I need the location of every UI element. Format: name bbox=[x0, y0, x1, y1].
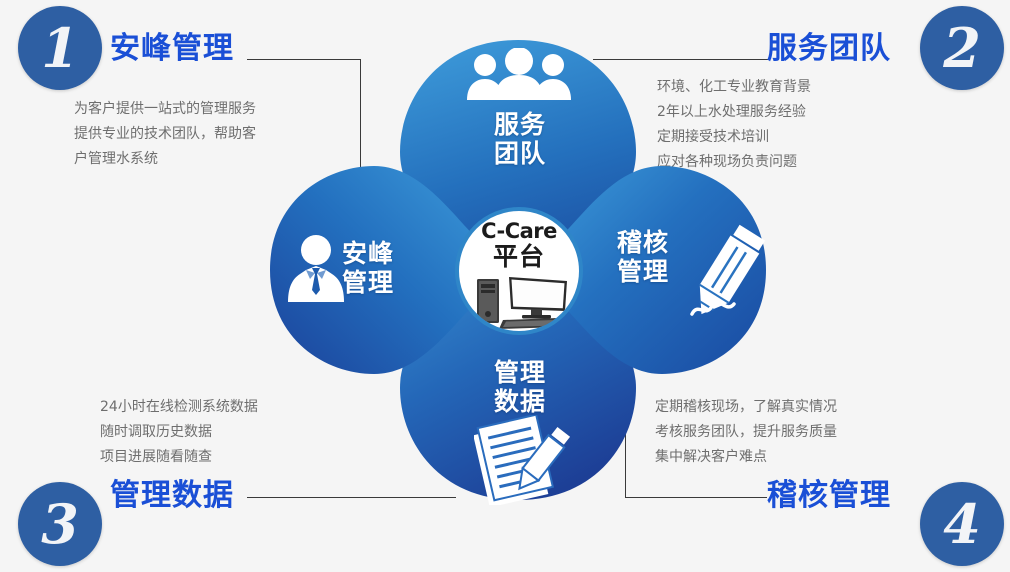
center-hub: C-Care 平台 bbox=[455, 207, 583, 335]
badge-number-4: 4 bbox=[943, 497, 981, 551]
body-line: 提供专业的技术团队，帮助客 bbox=[74, 122, 256, 147]
number-badge-2: 2 bbox=[920, 6, 1004, 90]
body-line: 随时调取历史数据 bbox=[100, 420, 258, 445]
section-title-4: 稽核管理 bbox=[767, 470, 891, 514]
section-body-1: 为客户提供一站式的管理服务 提供专业的技术团队，帮助客 户管理水系统 bbox=[74, 97, 256, 172]
petal-label-bottom: 管理 数据 bbox=[470, 358, 570, 416]
petal-label-top: 服务 团队 bbox=[470, 110, 570, 168]
body-line: 项目进展随看随查 bbox=[100, 445, 258, 470]
body-line: 户管理水系统 bbox=[74, 147, 256, 172]
hub-chinese-label: 平台 bbox=[459, 243, 579, 270]
infographic-canvas: 1 2 3 4 安峰管理 服务团队 管理数据 稽核管理 为客户提供一站式的管理服… bbox=[0, 0, 1010, 572]
petal-label-right: 稽核 管理 bbox=[617, 228, 717, 286]
body-line: 为客户提供一站式的管理服务 bbox=[74, 97, 256, 122]
badge-number-3: 3 bbox=[41, 497, 79, 551]
petal-label-left: 安峰 管理 bbox=[342, 239, 442, 297]
section-title-1: 安峰管理 bbox=[110, 23, 234, 67]
desktop-computer-icon bbox=[473, 273, 573, 331]
number-badge-1: 1 bbox=[18, 6, 102, 90]
section-title-2: 服务团队 bbox=[767, 23, 891, 67]
body-line: 24小时在线检测系统数据 bbox=[100, 395, 258, 420]
badge-number-2: 2 bbox=[943, 21, 981, 75]
number-badge-4: 4 bbox=[920, 482, 1004, 566]
section-title-3: 管理数据 bbox=[110, 470, 234, 514]
number-badge-3: 3 bbox=[18, 482, 102, 566]
hub-text: C-Care 平台 bbox=[459, 219, 579, 270]
badge-number-1: 1 bbox=[41, 21, 79, 75]
section-body-3: 24小时在线检测系统数据 随时调取历史数据 项目进展随看随查 bbox=[100, 395, 258, 470]
hub-english-label: C-Care bbox=[459, 219, 579, 243]
